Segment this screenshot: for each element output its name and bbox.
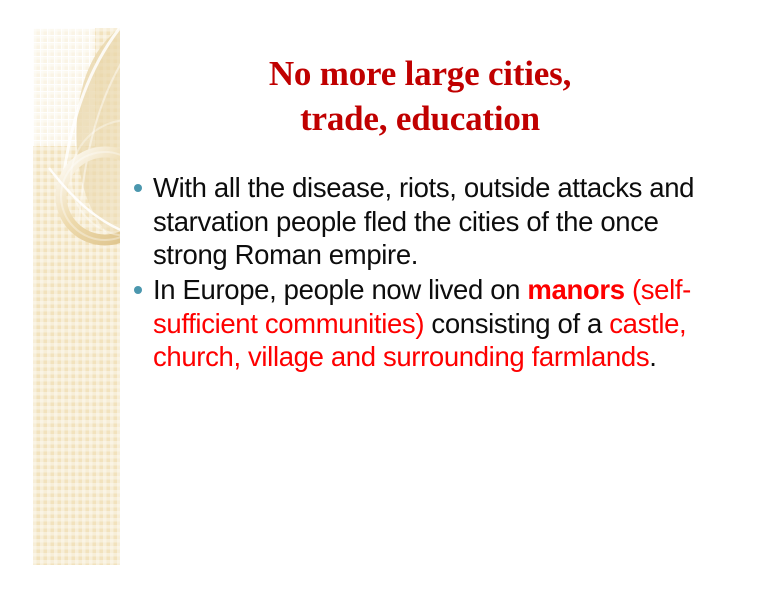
bullet-1-text: With all the disease, riots, outside att… <box>153 171 700 272</box>
list-item: With all the disease, riots, outside att… <box>134 171 700 272</box>
bullet-2-seg-4: consisting of a <box>424 308 609 339</box>
bullet-1-seg-1: With all the disease, riots, outside att… <box>153 172 694 270</box>
bullet-2-term-manors: manors <box>527 274 624 305</box>
bullet-2-seg-1: In Europe, people now lived on <box>153 274 527 305</box>
list-item: In Europe, people now lived on manors (s… <box>134 273 700 374</box>
title-line-1: No more large cities, <box>140 52 700 97</box>
bullet-dot-icon <box>134 273 153 294</box>
bullet-2-text: In Europe, people now lived on manors (s… <box>153 273 700 374</box>
slide-body: With all the disease, riots, outside att… <box>134 171 700 375</box>
title-line-2: trade, education <box>140 97 700 142</box>
slide-title: No more large cities, trade, education <box>140 52 700 142</box>
bullet-dot-icon <box>134 171 153 192</box>
bullet-2-period: . <box>649 341 656 372</box>
sidebar-ornament-icon <box>33 28 120 565</box>
slide-canvas: No more large cities, trade, education W… <box>0 0 776 600</box>
bullet-2-seg-space <box>625 274 632 305</box>
decorative-sidebar <box>33 28 120 565</box>
